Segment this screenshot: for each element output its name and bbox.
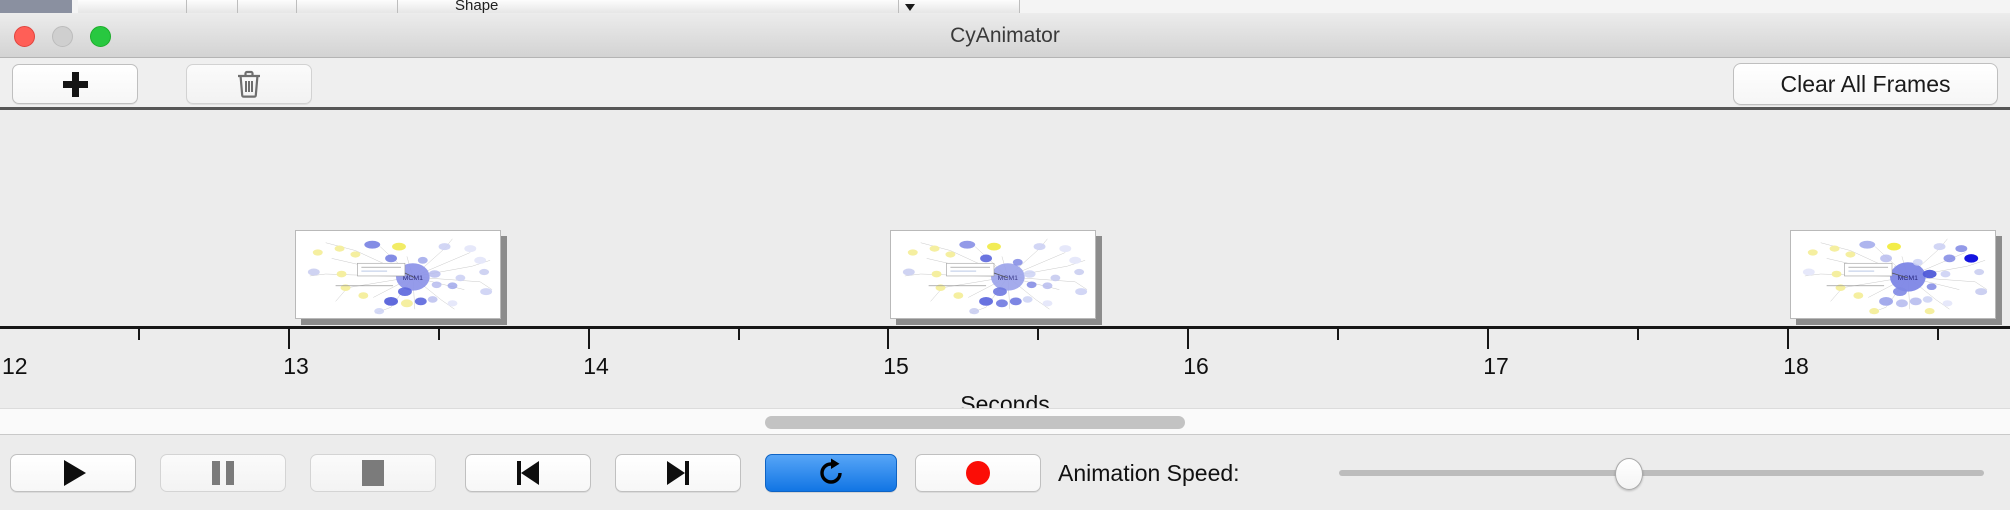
skip-start-button[interactable] bbox=[465, 454, 591, 492]
axis-minor-tick bbox=[1937, 329, 1939, 340]
axis-minor-tick bbox=[438, 329, 440, 340]
timeline-panel[interactable]: MCM1 bbox=[0, 113, 2010, 408]
timeline-scrollbar[interactable] bbox=[0, 408, 2010, 435]
timeline-frame[interactable]: MCM1 bbox=[890, 230, 1102, 325]
axis-major-tick bbox=[887, 329, 889, 349]
record-button[interactable] bbox=[915, 454, 1041, 492]
add-frame-button[interactable] bbox=[12, 64, 138, 104]
network-thumbnail-image: MCM1 bbox=[296, 231, 500, 318]
record-icon bbox=[966, 461, 990, 485]
background-cell bbox=[78, 0, 187, 13]
window-title: CyAnimator bbox=[0, 13, 2010, 58]
svg-text:MCM1: MCM1 bbox=[998, 275, 1019, 282]
background-shape-label: Shape bbox=[455, 0, 498, 14]
axis-tick-label: 14 bbox=[583, 353, 609, 380]
title-bar: CyAnimator bbox=[0, 13, 2010, 58]
axis-major-tick bbox=[588, 329, 590, 349]
axis-minor-tick bbox=[1637, 329, 1639, 340]
plus-icon bbox=[62, 71, 88, 97]
slider-thumb[interactable] bbox=[1615, 458, 1643, 490]
axis-minor-tick bbox=[1337, 329, 1339, 340]
axis-tick-label: 18 bbox=[1783, 353, 1809, 380]
background-window-strip: Shape bbox=[0, 0, 2010, 14]
axis-major-tick bbox=[1787, 329, 1789, 349]
clear-all-frames-button[interactable]: Clear All Frames bbox=[1733, 63, 1998, 105]
axis-tick-label: 15 bbox=[883, 353, 909, 380]
axis-tick-label: 13 bbox=[283, 353, 309, 380]
axis-major-tick bbox=[1487, 329, 1489, 349]
pause-icon bbox=[212, 461, 234, 485]
timeline-scrollbar-thumb[interactable] bbox=[765, 416, 1185, 429]
svg-text:MCM1: MCM1 bbox=[403, 275, 424, 282]
background-cell bbox=[187, 0, 238, 13]
animation-speed-slider[interactable] bbox=[1329, 436, 1994, 510]
axis-tick-label: 16 bbox=[1183, 353, 1209, 380]
stop-button[interactable] bbox=[310, 454, 436, 492]
timeline-frame[interactable]: MCM1 bbox=[1790, 230, 2002, 325]
skip-start-icon bbox=[515, 460, 541, 486]
stop-icon bbox=[362, 460, 384, 486]
axis-title: Seconds bbox=[0, 391, 2010, 408]
background-cell bbox=[238, 0, 297, 13]
background-cell bbox=[297, 0, 398, 13]
frame-thumbnail: MCM1 bbox=[1790, 230, 1996, 319]
play-icon bbox=[64, 460, 86, 486]
network-thumbnail-image: MCM1 bbox=[1791, 231, 1995, 318]
loop-button[interactable] bbox=[765, 454, 897, 492]
animation-speed-label: Animation Speed: bbox=[1058, 436, 1240, 510]
transport-bar: Animation Speed: bbox=[0, 436, 2010, 510]
trash-icon bbox=[236, 70, 262, 98]
axis-major-tick bbox=[1187, 329, 1189, 349]
background-cell bbox=[899, 0, 1020, 13]
slider-track bbox=[1339, 470, 1984, 476]
timeline-frame[interactable]: MCM1 bbox=[295, 230, 507, 325]
play-button[interactable] bbox=[10, 454, 136, 492]
skip-end-icon bbox=[665, 460, 691, 486]
axis-tick-label: 12 bbox=[2, 353, 28, 380]
delete-frame-button[interactable] bbox=[186, 64, 312, 104]
skip-end-button[interactable] bbox=[615, 454, 741, 492]
frame-thumbnail: MCM1 bbox=[890, 230, 1096, 319]
timeline-axis-line bbox=[0, 326, 2010, 329]
axis-minor-tick bbox=[1037, 329, 1039, 340]
axis-tick-label: 17 bbox=[1483, 353, 1509, 380]
axis-minor-tick bbox=[738, 329, 740, 340]
clear-all-frames-label: Clear All Frames bbox=[1781, 71, 1951, 98]
toolbar: Clear All Frames bbox=[0, 58, 2010, 110]
cyanimator-window: Shape CyAnimator Clear All Frames bbox=[0, 0, 2010, 510]
background-window-panel bbox=[0, 0, 72, 13]
axis-minor-tick bbox=[138, 329, 140, 340]
background-caret-icon bbox=[905, 4, 915, 11]
network-thumbnail-image: MCM1 bbox=[891, 231, 1095, 318]
axis-major-tick bbox=[288, 329, 290, 349]
loop-icon bbox=[816, 458, 846, 488]
pause-button[interactable] bbox=[160, 454, 286, 492]
frame-thumbnail: MCM1 bbox=[295, 230, 501, 319]
